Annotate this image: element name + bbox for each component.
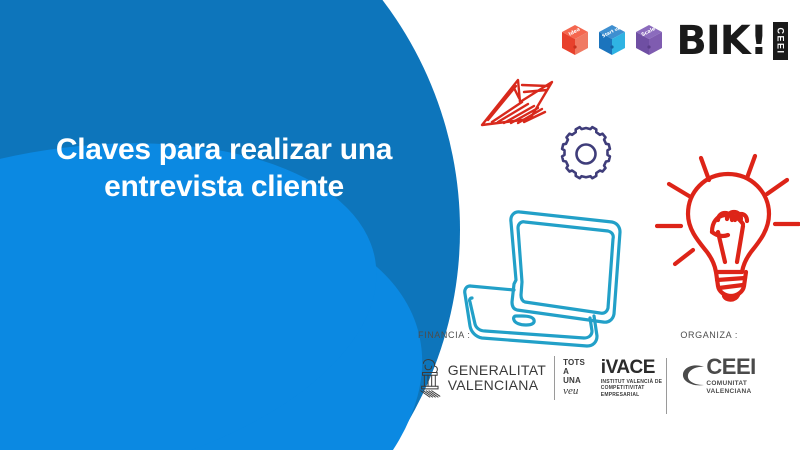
organiza-caption: ORGANIZA :	[680, 330, 800, 340]
tots-line-3: veu	[563, 385, 587, 398]
cube-group: Idea Start up Scale	[558, 22, 666, 60]
ivace-logo: iVACE INSTITUT VALENCIÀ DE COMPETITIVITA…	[601, 358, 667, 399]
ivace-subtitle: INSTITUT VALENCIÀ DE COMPETITIVITAT EMPR…	[601, 379, 667, 399]
generalitat-line-2: VALENCIANA	[448, 378, 546, 393]
lightbulb-doodle-icon	[655, 140, 800, 308]
organiza-column: ORGANIZA : CEEI COMUNITAT VALENCIANA	[666, 330, 800, 397]
ivace-subtitle-line-2: COMPETITIVITAT EMPRESARIAL	[601, 385, 667, 398]
financia-caption: FINANCIA :	[418, 330, 666, 340]
ceei-badge-label: CEEI	[776, 27, 786, 54]
arrow-doodle-icon	[478, 72, 558, 134]
slide-title-line-1: Claves para realizar una	[24, 132, 424, 169]
tots-line-2: A UNA	[563, 367, 587, 385]
ceei-logo: CEEI COMUNITAT VALENCIANA	[680, 356, 800, 397]
slide-title-line-2: entrevista cliente	[24, 169, 424, 206]
cube-idea-icon: Idea	[558, 22, 592, 60]
cube-startup-icon: Start up	[595, 22, 629, 60]
ceei-swoosh-icon	[680, 361, 706, 391]
ceei-subtitle-line-1: COMUNITAT	[706, 380, 755, 388]
ceei-subtitle-line-2: VALENCIANA	[706, 388, 755, 396]
tots-line-1: TOTS	[563, 358, 587, 367]
ceei-text-block: CEEI COMUNITAT VALENCIANA	[706, 356, 755, 397]
ceei-subtitle: COMUNITAT VALENCIANA	[706, 380, 755, 397]
ivace-wordmark: iVACE	[601, 358, 667, 377]
financia-logo-row: GENERALITAT VALENCIANA TOTS A UNA veu iV…	[418, 356, 666, 400]
financia-column: FINANCIA : GENE	[400, 330, 666, 400]
laptop-doodle-icon	[458, 206, 644, 348]
gear-doodle-icon	[556, 124, 616, 184]
ceei-vertical-badge: CEEI	[773, 22, 788, 60]
logo-divider-2	[666, 358, 667, 414]
ceei-wordmark: CEEI	[706, 356, 755, 378]
footer-logos: FINANCIA : GENE	[400, 330, 800, 430]
slide-title-block: Claves para realizar una entrevista clie…	[24, 132, 424, 205]
generalitat-emblem-icon	[418, 356, 442, 400]
bik-brand-logo: Idea Start up Scale BIK! CEEI	[558, 22, 788, 60]
generalitat-line-1: GENERALITAT	[448, 363, 546, 378]
bik-wordmark: BIK!	[676, 23, 767, 59]
generalitat-wordmark: GENERALITAT VALENCIANA	[448, 363, 546, 392]
tots-a-una-veu-logo: TOTS A UNA veu	[563, 358, 587, 398]
logo-divider-1	[554, 356, 555, 400]
cube-scale-icon: Scale	[632, 22, 666, 60]
presentation-slide: Claves para realizar una entrevista clie…	[0, 0, 800, 450]
